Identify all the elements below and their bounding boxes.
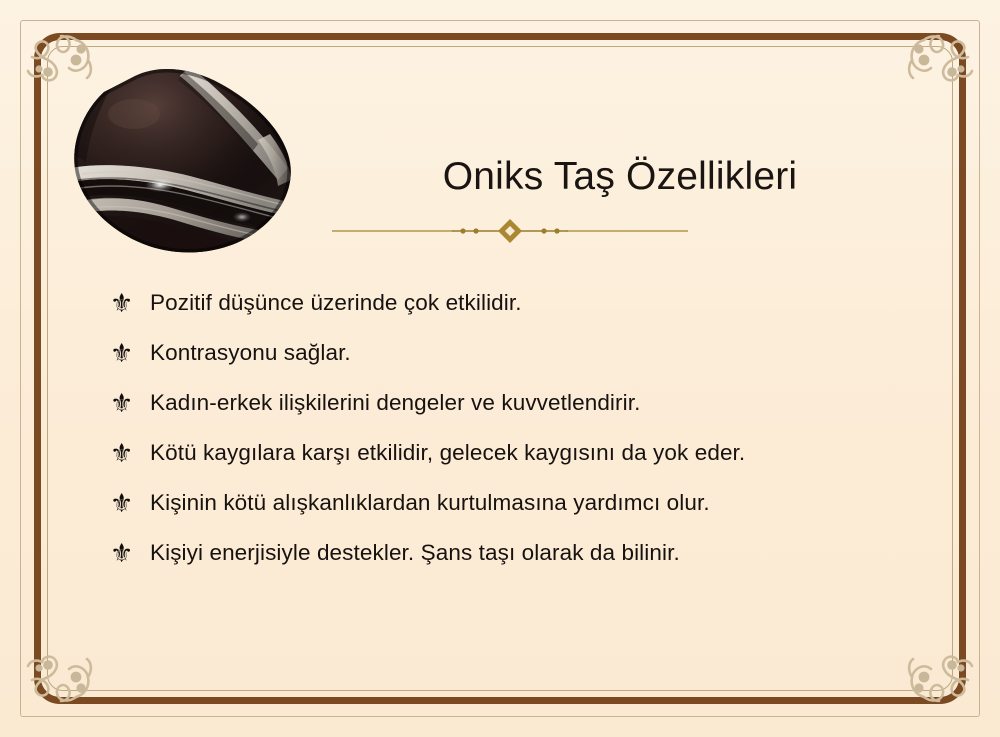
fleur-de-lis-icon: ⚜ xyxy=(106,490,150,516)
onyx-stone-photo xyxy=(64,62,304,262)
fleur-de-lis-icon: ⚜ xyxy=(106,440,150,466)
list-item: ⚜ Kontrasyonu sağlar. xyxy=(106,328,936,378)
diamond-divider-ornament xyxy=(332,218,688,244)
list-item-label: Kötü kaygılara karşı etkilidir, gelecek … xyxy=(150,440,745,466)
fleur-de-lis-icon: ⚜ xyxy=(106,290,150,316)
list-item: ⚜ Kişiyi enerjisiyle destekler. Şans taş… xyxy=(106,528,936,578)
fleur-de-lis-icon: ⚜ xyxy=(106,390,150,416)
fleur-de-lis-icon: ⚜ xyxy=(106,340,150,366)
fleur-de-lis-icon: ⚜ xyxy=(106,540,150,566)
list-item-label: Kadın-erkek ilişkilerini dengeler ve kuv… xyxy=(150,390,640,416)
list-item: ⚜ Pozitif düşünce üzerinde çok etkilidir… xyxy=(106,278,936,328)
onyx-properties-card: Oniks Taş Özellikleri ⚜ Pozitif düşünce … xyxy=(0,0,1000,737)
list-item-label: Pozitif düşünce üzerinde çok etkilidir. xyxy=(150,290,522,316)
list-item: ⚜ Kötü kaygılara karşı etkilidir, gelece… xyxy=(106,428,936,478)
list-item-label: Kişiyi enerjisiyle destekler. Şans taşı … xyxy=(150,540,680,566)
feature-list: ⚜ Pozitif düşünce üzerinde çok etkilidir… xyxy=(106,278,936,578)
page-title: Oniks Taş Özellikleri xyxy=(300,155,940,199)
list-item-label: Kişinin kötü alışkanlıklardan kurtulması… xyxy=(150,490,710,516)
list-item: ⚜ Kişinin kötü alışkanlıklardan kurtulma… xyxy=(106,478,936,528)
list-item: ⚜ Kadın-erkek ilişkilerini dengeler ve k… xyxy=(106,378,936,428)
list-item-label: Kontrasyonu sağlar. xyxy=(150,340,351,366)
